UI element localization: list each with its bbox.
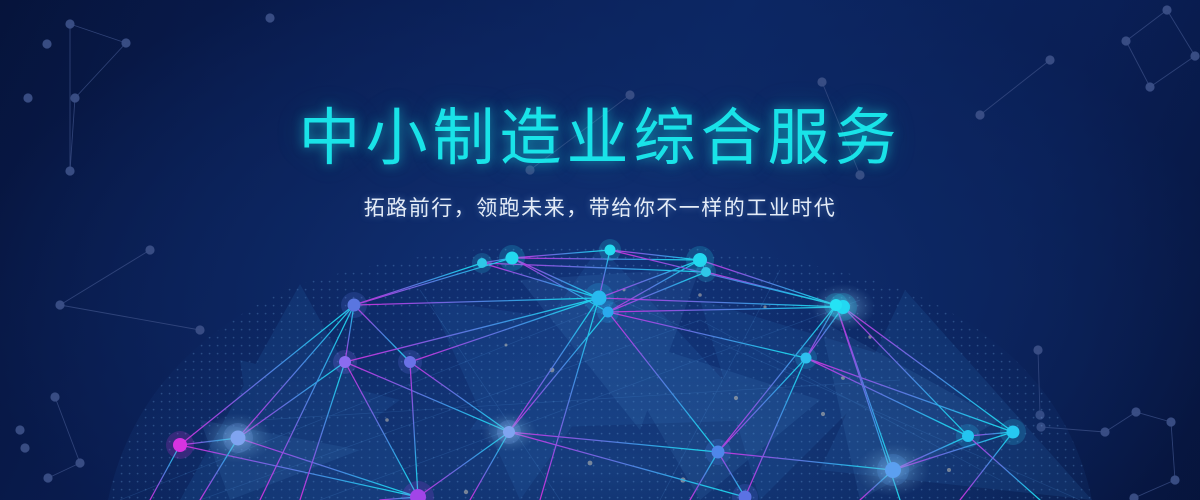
network-edge	[806, 358, 1013, 432]
network-node	[231, 431, 246, 446]
network-edge	[509, 312, 608, 432]
network-node	[173, 438, 187, 452]
network-edge	[608, 307, 843, 312]
network-node	[348, 299, 361, 312]
network-edge	[718, 305, 836, 452]
network-edge	[608, 312, 806, 358]
hero-banner: 中小制造业综合服务 拓路前行，领跑未来，带给你不一样的工业时代	[0, 0, 1200, 500]
network-node	[506, 252, 519, 265]
network-edge	[608, 260, 700, 312]
network-node	[962, 430, 974, 442]
network-node	[503, 426, 515, 438]
network-edge	[354, 298, 599, 305]
network-edge	[718, 358, 806, 452]
network-node	[404, 356, 416, 368]
network-edge	[540, 298, 599, 500]
network-node	[339, 356, 351, 368]
network-edge	[968, 436, 1040, 500]
network-edge	[410, 298, 599, 362]
network-node	[605, 245, 616, 256]
network-edge	[509, 432, 718, 452]
network-edge	[599, 298, 843, 307]
network-edge	[509, 298, 599, 432]
network-edge	[180, 305, 354, 445]
network-edge	[608, 272, 706, 312]
network-edge	[410, 362, 418, 497]
network-edge	[345, 362, 509, 432]
network-node	[701, 267, 711, 277]
network-node	[603, 307, 614, 318]
network-edge	[806, 358, 968, 436]
network-node	[477, 258, 487, 268]
network-edge	[482, 263, 599, 298]
network-edge	[354, 263, 482, 305]
network-edge	[512, 250, 610, 258]
network-edge	[608, 312, 718, 452]
network-edge	[843, 307, 968, 436]
network-edge	[345, 298, 599, 362]
network-node	[885, 462, 901, 478]
network-node	[830, 299, 842, 311]
network-node	[712, 446, 725, 459]
network-edge	[843, 307, 1013, 432]
network-edge	[599, 260, 700, 298]
network-edge	[745, 358, 806, 497]
network-node	[1007, 426, 1020, 439]
dome-node-network	[0, 0, 1200, 500]
network-node	[801, 353, 812, 364]
